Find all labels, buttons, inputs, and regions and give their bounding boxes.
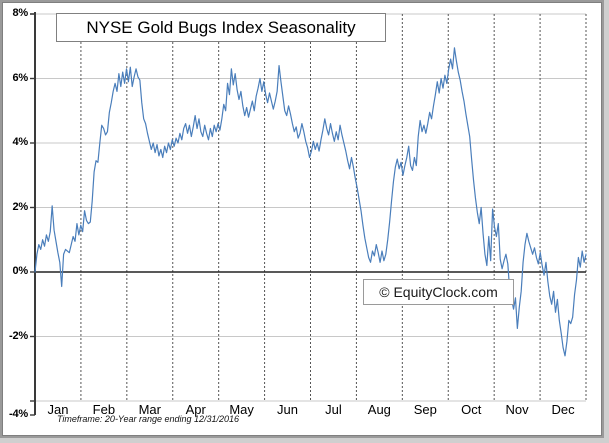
y-tick-label: -2% bbox=[0, 330, 28, 342]
y-tick-label: 4% bbox=[0, 136, 28, 148]
page-title: NYSE Gold Bugs Index Seasonality bbox=[86, 18, 355, 38]
y-tick-label: 0% bbox=[0, 265, 28, 277]
y-tick-label: 8% bbox=[0, 7, 28, 19]
x-tick-label-aug: Aug bbox=[356, 402, 402, 417]
y-tick-label: -4% bbox=[0, 408, 28, 420]
chart-title-box: NYSE Gold Bugs Index Seasonality bbox=[56, 13, 386, 42]
timeframe-footnote: Timeframe: 20-Year range ending 12/31/20… bbox=[57, 414, 239, 424]
chart-screenshot: 8%6%4%2%0%-2%-4% JanFebMarAprMayJunJulAu… bbox=[0, 0, 609, 443]
watermark-label: © EquityClock.com bbox=[379, 284, 497, 300]
y-tick-label: 2% bbox=[0, 201, 28, 213]
seasonality-line-chart bbox=[0, 0, 609, 443]
x-tick-label-dec: Dec bbox=[540, 402, 586, 417]
plot-area: 8%6%4%2%0%-2%-4% JanFebMarAprMayJunJulAu… bbox=[0, 0, 609, 443]
watermark-box: © EquityClock.com bbox=[363, 279, 514, 305]
x-tick-label-jun: Jun bbox=[265, 402, 311, 417]
x-tick-label-oct: Oct bbox=[448, 402, 494, 417]
y-tick-label: 6% bbox=[0, 72, 28, 84]
x-tick-label-jul: Jul bbox=[311, 402, 357, 417]
x-tick-label-nov: Nov bbox=[494, 402, 540, 417]
x-tick-label-sep: Sep bbox=[402, 402, 448, 417]
